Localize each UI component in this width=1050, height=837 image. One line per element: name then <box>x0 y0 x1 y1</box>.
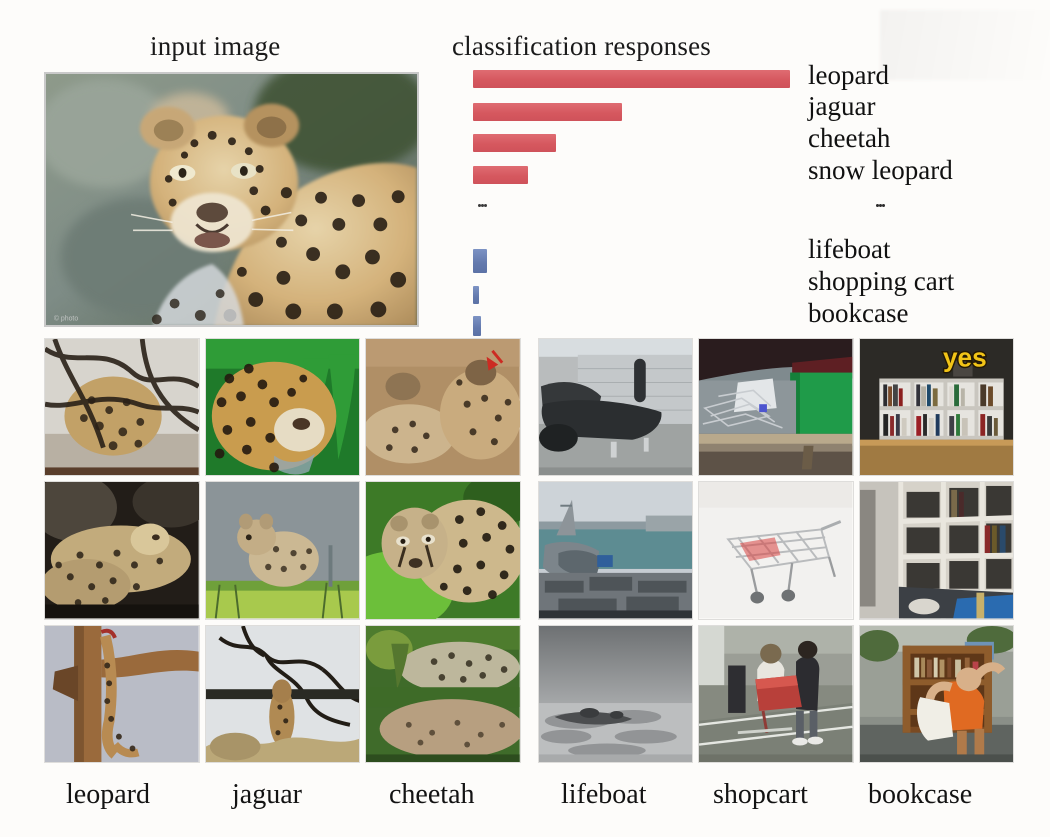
bottom-label-shopcart: shopcart <box>713 779 808 811</box>
thumb-lifeboat-on-trailer-by-wall <box>538 338 693 476</box>
right-thumbnail-grid: yes <box>538 338 1014 763</box>
thumb-jaguar-on-branch-bare-tree <box>205 625 361 763</box>
thumb-lifeboat-grayscale-at-sea <box>538 625 693 763</box>
left-thumbnail-grid <box>44 338 521 763</box>
input-image-photo: © photo <box>44 72 419 327</box>
figure-canvas: input image classification responses <box>0 0 1050 837</box>
bar-shopping-cart <box>473 286 479 304</box>
class-label-lifeboat: lifeboat <box>808 236 890 263</box>
class-label-leopard: leopard <box>808 62 889 89</box>
thumb-cheetah-resting-in-green-field <box>365 625 521 763</box>
yes-overlay-text: yes <box>943 342 987 372</box>
thumb-lifeboat-at-harbour <box>538 481 693 619</box>
thumb-bookcase-with-yes-overlay: yes <box>859 338 1014 476</box>
bar-bookcase <box>473 316 481 336</box>
class-label-shopping-cart: shopping cart <box>808 268 954 295</box>
thumb-cheetah-face-closeup <box>365 481 521 619</box>
bottom-label-bookcase: bookcase <box>868 779 972 811</box>
classification-response-bar-chart <box>473 64 803 319</box>
thumb-man-carrying-wooden-bookcase <box>859 625 1014 763</box>
thumb-leopard-lying-on-rock <box>44 481 200 619</box>
classification-responses-title: classification responses <box>452 31 711 62</box>
bar-snow-leopard <box>473 166 528 184</box>
class-label-jaguar: jaguar <box>808 93 875 120</box>
svg-text:© photo: © photo <box>54 314 78 322</box>
leopard-portrait-illustration: © photo <box>46 74 417 326</box>
bar-cheetah <box>473 134 556 152</box>
class-label-bookcase: bookcase <box>808 300 908 327</box>
bar-ellipsis-icon <box>478 200 487 211</box>
input-image-title: input image <box>150 31 280 62</box>
bar-leopard <box>473 70 790 88</box>
background-watermark <box>880 10 1050 80</box>
class-label-snow-leopard: snow leopard <box>808 157 953 184</box>
label-ellipsis-icon <box>876 200 885 211</box>
thumb-shopping-carts-by-green-dumpster <box>698 338 853 476</box>
bottom-label-leopard: leopard <box>66 779 150 811</box>
bar-jaguar <box>473 103 622 121</box>
thumb-jaguar-cub-standing-in-grass <box>205 481 361 619</box>
bottom-label-lifeboat: lifeboat <box>561 779 647 811</box>
thumb-cheetahs-on-sand <box>365 338 521 476</box>
thumb-leopard-in-tree <box>44 338 200 476</box>
bottom-label-jaguar: jaguar <box>232 779 302 811</box>
thumb-shopping-cart-on-white <box>698 481 853 619</box>
class-label-cheetah: cheetah <box>808 125 890 152</box>
thumb-jaguar-head-in-grass <box>205 338 361 476</box>
thumb-bookcase-white-shelves-room <box>859 481 1014 619</box>
bottom-label-cheetah: cheetah <box>389 779 475 811</box>
bar-lifeboat <box>473 249 487 273</box>
thumb-people-pushing-red-shopping-cart <box>698 625 853 763</box>
thumb-leopard-hanging-from-trunk <box>44 625 200 763</box>
